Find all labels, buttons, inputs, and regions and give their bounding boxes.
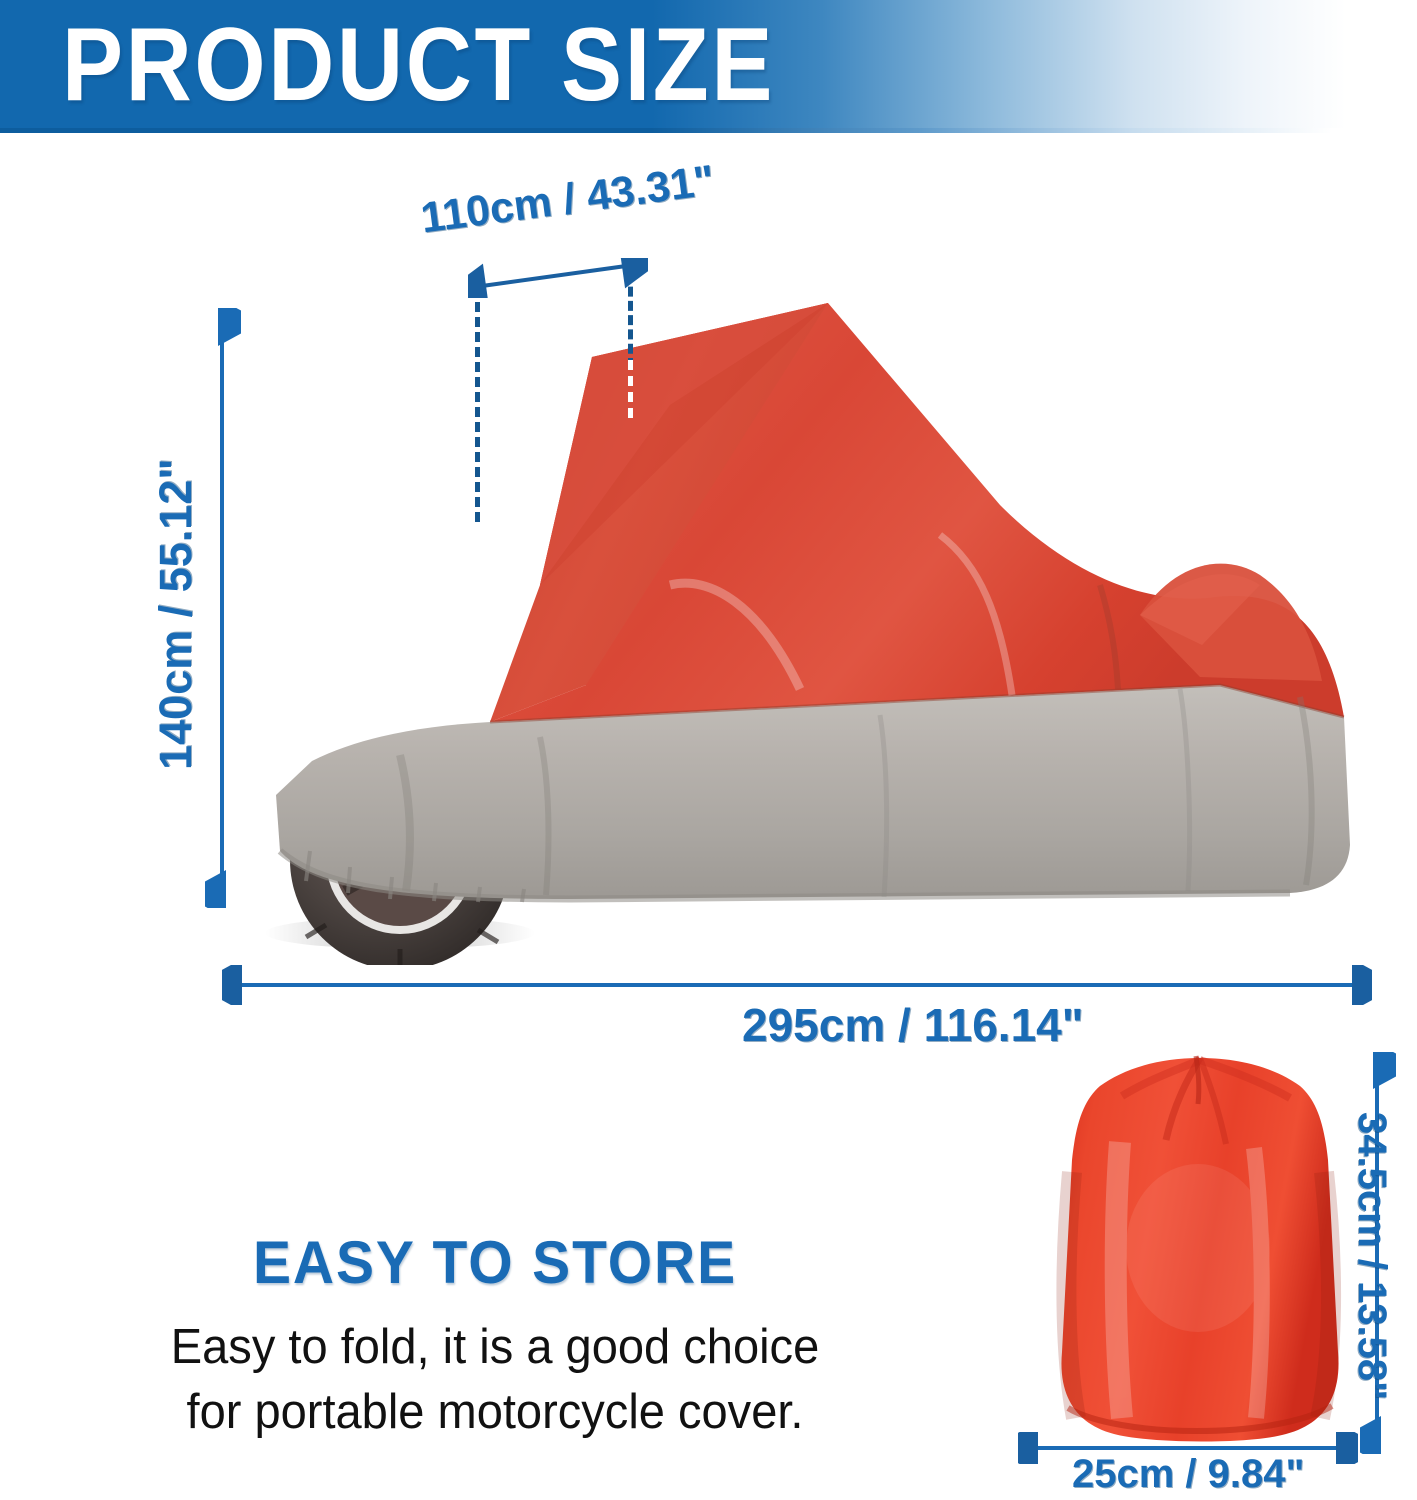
guide-line-top-width-right-onred — [628, 360, 633, 418]
motorcycle-cover-graphic — [240, 285, 1360, 965]
easy-to-store-body: Easy to fold, it is a good choice for po… — [20, 1315, 970, 1444]
easy-to-store-body-line-2: for portable motorcycle cover. — [20, 1380, 970, 1445]
dimension-label-length: 295cm / 116.14" — [742, 998, 1084, 1052]
dimension-arrow-top-width — [468, 258, 648, 298]
storage-bag-illustration — [1048, 1052, 1348, 1452]
guide-line-top-width-left — [475, 272, 480, 522]
dimension-arrow-height — [205, 308, 241, 908]
dimension-label-height: 140cm / 55.12" — [150, 458, 202, 770]
motorcycle-cover-illustration — [240, 285, 1360, 965]
dimension-label-top-width: 110cm / 43.31" — [418, 156, 717, 243]
dimension-label-bag-height: 34.5cm / 13.58" — [1349, 1112, 1394, 1400]
easy-to-store-body-line-1: Easy to fold, it is a good choice — [20, 1315, 970, 1380]
easy-to-store-heading: EASY TO STORE — [25, 1228, 966, 1297]
dimension-label-bag-width: 25cm / 9.84" — [1072, 1452, 1304, 1497]
header-banner-underline — [0, 128, 1417, 133]
product-size-infographic: PRODUCT SIZE — [0, 0, 1417, 1500]
storage-bag-graphic — [1048, 1052, 1348, 1452]
page-title: PRODUCT SIZE — [62, 9, 775, 121]
